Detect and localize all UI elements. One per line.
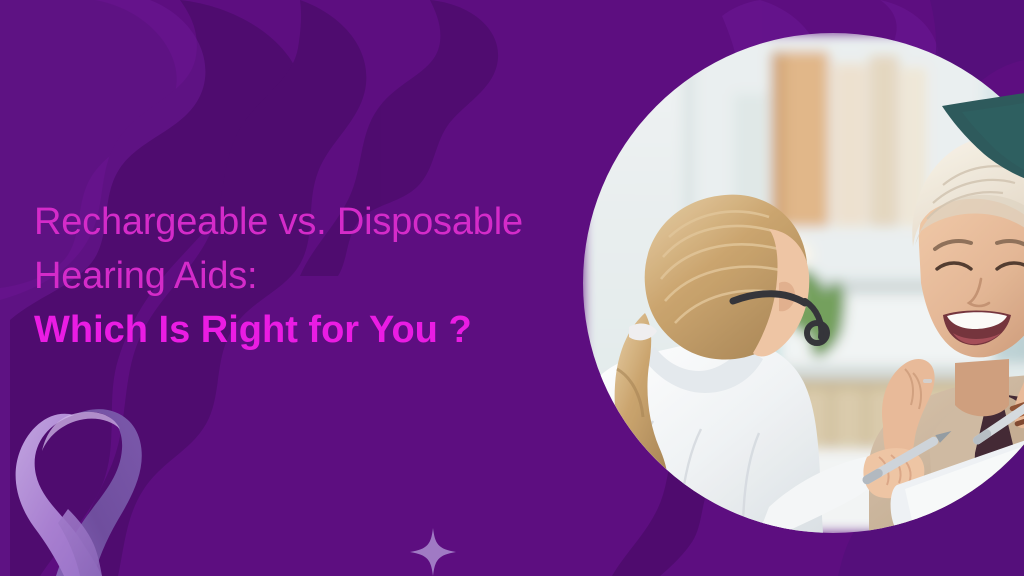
headline-line-3: Which Is Right for You ? xyxy=(34,304,594,358)
headline-block: Rechargeable vs. Disposable Hearing Aids… xyxy=(34,196,594,358)
awareness-ribbon-icon xyxy=(12,391,152,576)
headline-line-1: Rechargeable vs. Disposable xyxy=(34,196,594,250)
four-point-star-icon xyxy=(410,528,456,576)
promo-banner: Rechargeable vs. Disposable Hearing Aids… xyxy=(0,0,1024,576)
headline-line-2: Hearing Aids: xyxy=(34,250,594,304)
